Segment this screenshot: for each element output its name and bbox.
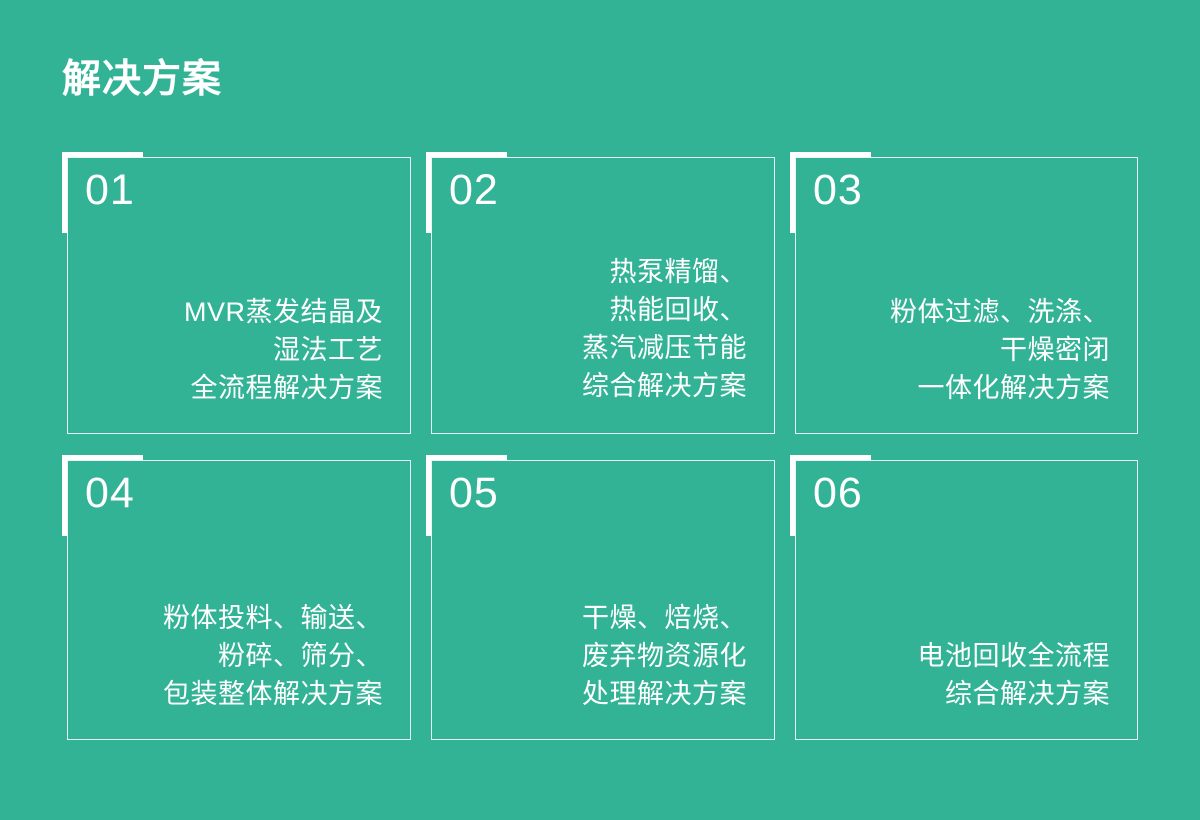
card-number: 05	[449, 469, 499, 518]
solutions-slide: 解决方案 01 MVR蒸发结晶及 湿法工艺 全流程解决方案 02 热泵精馏、 热…	[0, 0, 1200, 820]
solution-card-02[interactable]: 02 热泵精馏、 热能回收、 蒸汽减压节能 综合解决方案	[431, 157, 775, 434]
solution-card-01[interactable]: 01 MVR蒸发结晶及 湿法工艺 全流程解决方案	[67, 157, 411, 434]
solution-card-03[interactable]: 03 粉体过滤、洗涤、 干燥密闭 一体化解决方案	[795, 157, 1138, 434]
card-description: 干燥、焙烧、 废弃物资源化 处理解决方案	[456, 599, 747, 713]
card-description: 电池回收全流程 综合解决方案	[820, 637, 1110, 713]
solution-card-grid: 01 MVR蒸发结晶及 湿法工艺 全流程解决方案 02 热泵精馏、 热能回收、 …	[67, 157, 1138, 740]
card-description: 粉体过滤、洗涤、 干燥密闭 一体化解决方案	[820, 293, 1110, 407]
card-description: 热泵精馏、 热能回收、 蒸汽减压节能 综合解决方案	[456, 253, 747, 405]
card-number: 02	[449, 166, 499, 215]
solution-card-06[interactable]: 06 电池回收全流程 综合解决方案	[795, 460, 1138, 740]
card-number: 03	[813, 166, 863, 215]
card-number: 04	[85, 469, 135, 518]
card-description: MVR蒸发结晶及 湿法工艺 全流程解决方案	[92, 293, 383, 407]
card-number: 01	[85, 166, 135, 215]
card-description: 粉体投料、输送、 粉碎、筛分、 包装整体解决方案	[92, 599, 383, 713]
solution-card-04[interactable]: 04 粉体投料、输送、 粉碎、筛分、 包装整体解决方案	[67, 460, 411, 740]
solution-card-05[interactable]: 05 干燥、焙烧、 废弃物资源化 处理解决方案	[431, 460, 775, 740]
page-title: 解决方案	[62, 56, 222, 105]
card-number: 06	[813, 469, 863, 518]
